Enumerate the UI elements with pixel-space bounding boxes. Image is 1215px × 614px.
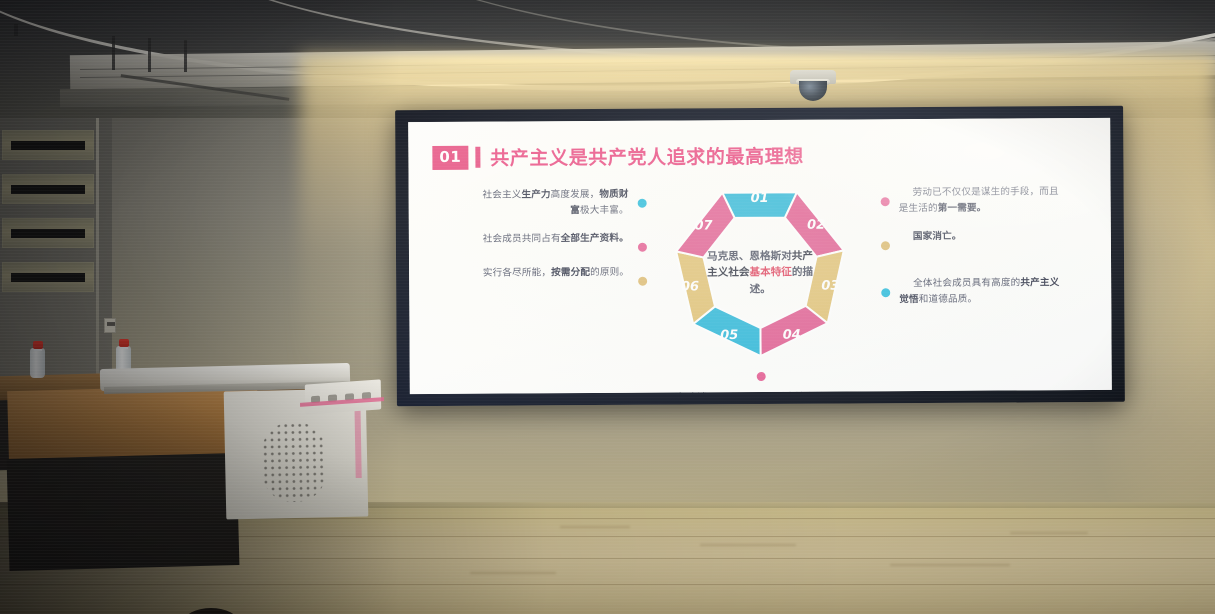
right-bullet-column: 劳动已不仅仅是谋生的手段，而且是生活的第一需要。 国家消亡。 全体社会成员具有高… [881,184,1090,320]
wall-panel [2,174,94,204]
bullet-text: 全体社会成员具有高度的共产主义觉悟和道德品质。 [899,275,1067,307]
floor-grain [1010,532,1088,534]
presenter-hair [184,608,238,614]
heptagon-segment-label: 04 [783,328,801,343]
heptagon-segment-label: 07 [694,218,713,233]
list-item: 社会成员共同占有全部生产资料。 [439,231,647,253]
list-item: 劳动已不仅仅是谋生的手段，而且是生活的第一需要。 [881,184,1089,216]
list-item: 国家消亡。 [881,228,1089,250]
podium-wood-front [7,385,259,460]
floor-grain [890,564,1010,566]
left-bullet-column: 社会主义生产力高度发展，物质财富极大丰富。 社会成员共同占有全部生产资料。 实行… [439,187,648,300]
slide-header: 01 共产主义是共产党人追求的最高理想 [432,142,804,171]
podium-area [0,352,400,614]
bullet-text: 劳动已不仅仅是谋生的手段，而且是生活的第一需要。 [899,184,1067,216]
ceiling-bracket [148,38,151,72]
bullet-dot-gold [638,277,647,286]
bullet-dot-gold [881,241,890,250]
projection-screen[interactable]: 01 共产主义是共产党人追求的最高理想 社会主义生产力高度发展，物质财富极大丰富… [395,106,1125,406]
title-accent-bar [475,147,480,168]
bullet-dot-pink [881,197,890,206]
podium-base [7,453,240,571]
list-item: 社会主义生产力高度发展，物质财富极大丰富。 [439,187,647,219]
lecture-hall-scene: 01 共产主义是共产党人追求的最高理想 社会主义生产力高度发展，物质财富极大丰富… [0,0,1215,614]
ceiling-bracket [184,40,187,72]
heptagon-segment-label: 02 [807,218,825,233]
bullet-text: 实行各尽所能，按需分配的原则。 [461,265,629,282]
bullet-dot-cyan [881,288,890,297]
bullet-text: 社会主义生产力高度发展，物质财富极大丰富。 [461,187,629,219]
slide-body: 社会主义生产力高度发展，物质财富极大丰富。 社会成员共同占有全部生产资料。 实行… [409,184,1112,394]
heptagon-segment-label: 01 [751,191,769,206]
section-number-badge: 01 [432,145,468,169]
bullet-dot-pink [756,372,765,381]
list-item: 实行各尽所能，按需分配的原则。 [439,265,647,287]
wall-panel [2,262,94,292]
list-item: 全体社会成员具有高度的共产主义觉悟和道德品质。 [881,275,1089,307]
bullet-dot-cyan [638,199,647,208]
floor-grain [470,572,556,574]
heptagon-segment-label: 03 [821,279,839,294]
wall-panel [2,218,94,248]
ceiling-fixture [14,24,18,36]
bullet-text: 国家消亡。 [899,228,1067,245]
floor-grain [560,526,630,528]
heptagon-center-text: 马克思、恩格斯对共产主义社会基本特征的描述。 [706,248,814,298]
bullet-text: 彻底消灭了阶级差别和重大社会差别。 [678,391,844,394]
bottom-caption: 彻底消灭了阶级差别和重大社会差别。 [671,371,851,394]
wall-switch-icon [104,318,116,333]
presentation-slide: 01 共产主义是共产党人追求的最高理想 社会主义生产力高度发展，物质财富极大丰富… [408,118,1112,394]
screen-display-area: 01 共产主义是共产党人追求的最高理想 社会主义生产力高度发展，物质财富极大丰富… [408,118,1112,394]
heptagon-segment-label: 05 [720,328,738,343]
cove-light-strip [300,56,1215,65]
wall-panel [2,130,94,160]
page-title: 共产主义是共产党人追求的最高理想 [490,142,804,171]
heptagon-segment-label: 06 [681,279,699,294]
floor-grain [700,544,796,546]
heptagon-diagram: 01020304050607 马克思、恩格斯对共产主义社会基本特征的描述。 [662,181,859,364]
ceiling-bracket [112,36,115,70]
podium-speaker-grille [261,421,327,502]
bullet-dot-pink [638,243,647,252]
bullet-text: 社会成员共同占有全部生产资料。 [461,231,629,248]
